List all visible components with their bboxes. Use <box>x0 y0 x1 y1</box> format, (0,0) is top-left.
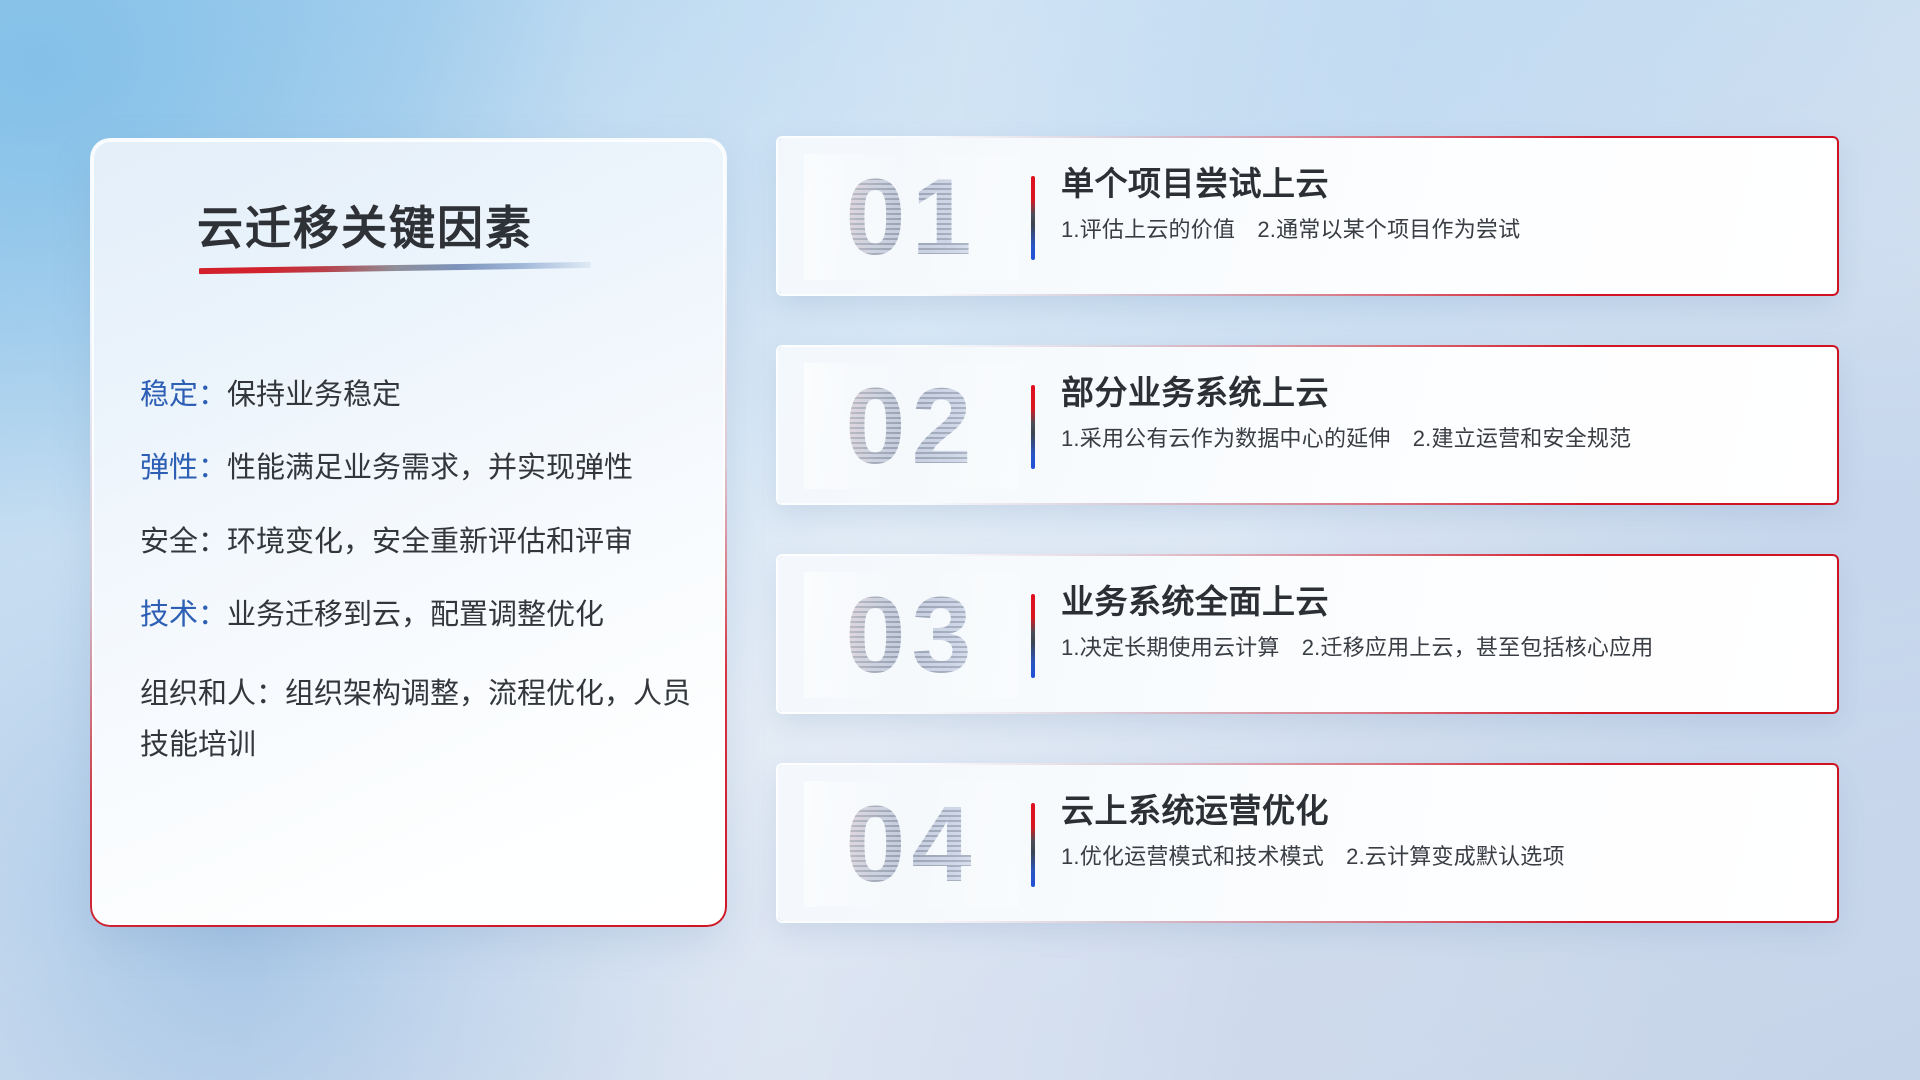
step-description: 1.决定长期使用云计算 2.迁移应用上云，甚至包括核心应用 <box>1061 634 1813 663</box>
factor-label: 稳定： <box>140 379 227 411</box>
list-item: 安全：环境变化，安全重新评估和评审 <box>140 523 699 561</box>
migration-steps-list: 01 单个项目尝试上云 1.评估上云的价值 2.通常以某个项目作为尝试 02 部… <box>778 138 1837 974</box>
factor-label: 组织和人： <box>140 678 285 710</box>
step-content: 业务系统全面上云 1.决定长期使用云计算 2.迁移应用上云，甚至包括核心应用 <box>1061 582 1813 663</box>
step-description: 1.评估上云的价值 2.通常以某个项目作为尝试 <box>1061 216 1813 245</box>
key-factors-panel: 云迁移关键因素 稳定：保持业务稳定 弹性：性能满足业务需求，并实现弹性 安全：环… <box>92 140 725 925</box>
step-card[interactable]: 02 部分业务系统上云 1.采用公有云作为数据中心的延伸 2.建立运营和安全规范 <box>778 347 1837 503</box>
step-description: 1.采用公有云作为数据中心的延伸 2.建立运营和安全规范 <box>1061 425 1813 454</box>
step-card[interactable]: 03 业务系统全面上云 1.决定长期使用云计算 2.迁移应用上云，甚至包括核心应… <box>778 556 1837 712</box>
step-divider-bar <box>1031 803 1035 887</box>
step-number: 04 <box>804 781 1019 907</box>
step-title: 业务系统全面上云 <box>1061 582 1813 622</box>
factor-label: 弹性： <box>140 452 227 484</box>
step-title: 单个项目尝试上云 <box>1061 164 1813 204</box>
list-item: 技术：业务迁移到云，配置调整优化 <box>140 596 699 634</box>
factor-label: 技术： <box>140 599 227 631</box>
step-number: 02 <box>804 363 1019 489</box>
step-card[interactable]: 01 单个项目尝试上云 1.评估上云的价值 2.通常以某个项目作为尝试 <box>778 138 1837 294</box>
step-description: 1.优化运营模式和技术模式 2.云计算变成默认选项 <box>1061 843 1813 872</box>
step-number: 03 <box>804 572 1019 698</box>
step-divider-bar <box>1031 594 1035 678</box>
step-number: 01 <box>804 154 1019 280</box>
step-card[interactable]: 04 云上系统运营优化 1.优化运营模式和技术模式 2.云计算变成默认选项 <box>778 765 1837 921</box>
title-underline-rule <box>199 262 591 274</box>
list-item: 弹性：性能满足业务需求，并实现弹性 <box>140 449 699 487</box>
key-factors-list: 稳定：保持业务稳定 弹性：性能满足业务需求，并实现弹性 安全：环境变化，安全重新… <box>140 376 699 771</box>
step-divider-bar <box>1031 385 1035 469</box>
step-content: 云上系统运营优化 1.优化运营模式和技术模式 2.云计算变成默认选项 <box>1061 791 1813 872</box>
factor-text: 业务迁移到云，配置调整优化 <box>227 599 604 631</box>
list-item: 稳定：保持业务稳定 <box>140 376 699 414</box>
factor-text: 保持业务稳定 <box>227 379 401 411</box>
factor-text: 性能满足业务需求，并实现弹性 <box>227 452 633 484</box>
step-divider-bar <box>1031 176 1035 260</box>
factor-text: 环境变化，安全重新评估和评审 <box>227 526 633 558</box>
step-title: 云上系统运营优化 <box>1061 791 1813 831</box>
factor-label: 安全： <box>140 526 227 558</box>
step-content: 单个项目尝试上云 1.评估上云的价值 2.通常以某个项目作为尝试 <box>1061 164 1813 245</box>
list-item: 组织和人：组织架构调整，流程优化，人员技能培训 <box>140 669 699 771</box>
page-title: 云迁移关键因素 <box>197 192 533 258</box>
step-content: 部分业务系统上云 1.采用公有云作为数据中心的延伸 2.建立运营和安全规范 <box>1061 373 1813 454</box>
step-title: 部分业务系统上云 <box>1061 373 1813 413</box>
slide-canvas: 云迁移关键因素 稳定：保持业务稳定 弹性：性能满足业务需求，并实现弹性 安全：环… <box>0 0 1920 1080</box>
